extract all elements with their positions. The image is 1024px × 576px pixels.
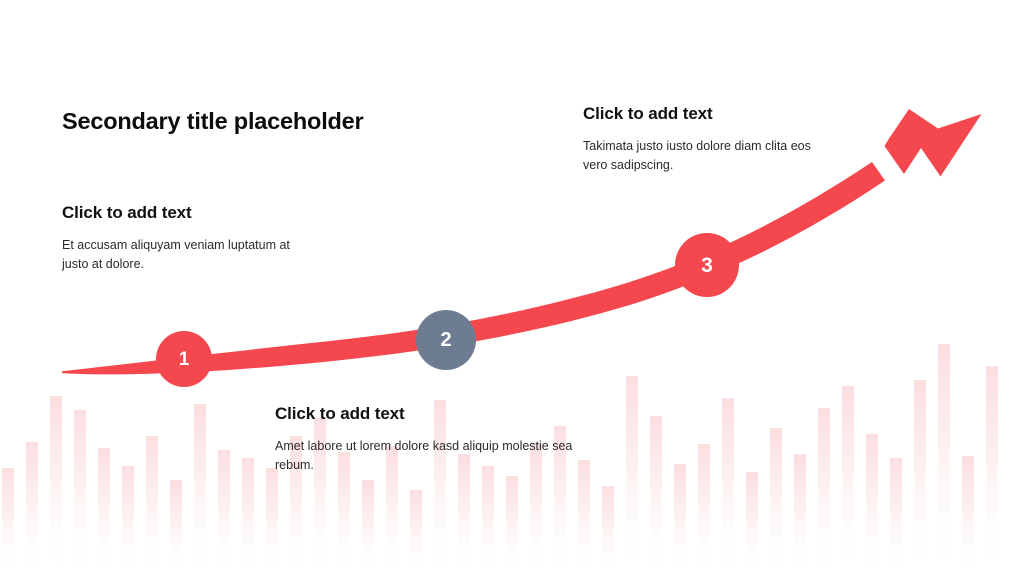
text-block-1-body[interactable]: Et accusam aliquyam veniam luptatum at j… [62,236,314,274]
slide-canvas: Secondary title placeholder 1 2 3 Click … [0,0,1024,576]
text-block-1-heading[interactable]: Click to add text [62,203,314,223]
text-block-2: Click to add text Amet labore ut lorem d… [275,404,595,475]
milestone-number-2: 2 [440,330,451,350]
text-block-3: Click to add text Takimata justo iusto d… [583,104,811,175]
text-block-1: Click to add text Et accusam aliquyam ve… [62,203,314,274]
milestone-number-1: 1 [179,350,190,369]
text-block-2-body[interactable]: Amet labore ut lorem dolore kasd aliquip… [275,437,595,475]
milestone-number-3: 3 [701,255,713,276]
growth-arrow [0,0,1024,576]
arrow-head [885,109,982,177]
text-block-2-heading[interactable]: Click to add text [275,404,595,424]
text-block-3-heading[interactable]: Click to add text [583,104,811,124]
text-block-3-body[interactable]: Takimata justo iusto dolore diam clita e… [583,137,811,175]
milestone-marker-1[interactable]: 1 [156,331,212,387]
milestone-marker-2[interactable]: 2 [416,310,476,370]
milestone-marker-3[interactable]: 3 [675,233,739,297]
page-title: Secondary title placeholder [62,108,364,135]
